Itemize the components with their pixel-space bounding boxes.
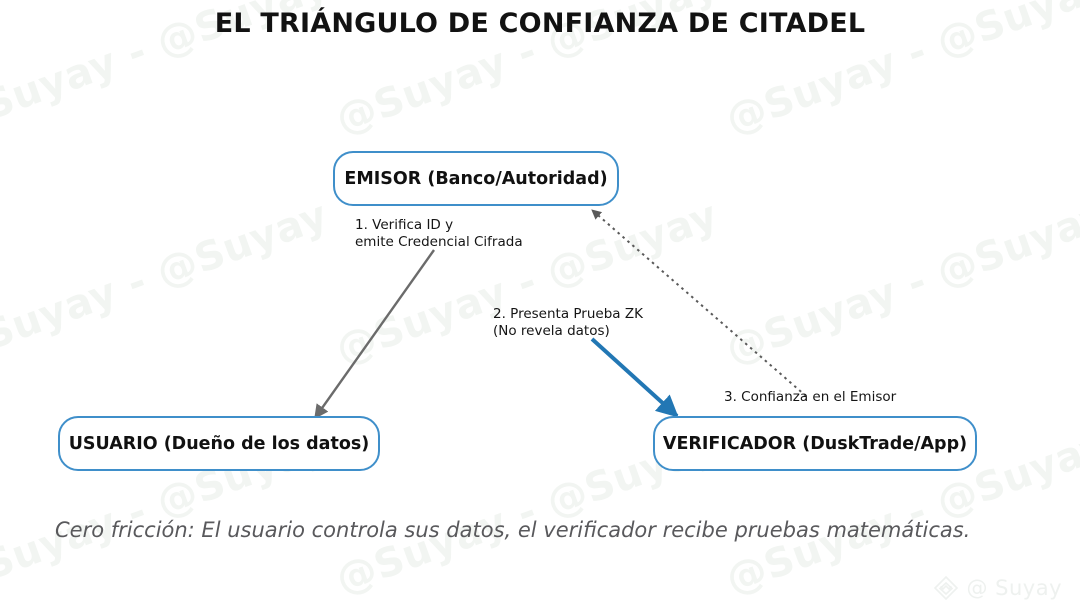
edge-label-3: 3. Confianza en el Emisor <box>724 389 896 406</box>
node-emisor-label: EMISOR (Banco/Autoridad) <box>344 169 607 189</box>
corner-watermark-text: @ Suyay <box>966 576 1062 600</box>
diagram-caption: Cero fricción: El usuario controla sus d… <box>55 518 970 542</box>
edge-usuario-to-verificador <box>592 339 677 416</box>
edge-emisor-to-usuario <box>315 250 434 418</box>
edge-label-2: 2. Presenta Prueba ZK (No revela datos) <box>493 306 643 340</box>
node-usuario-label: USUARIO (Dueño de los datos) <box>69 434 370 454</box>
diagram-canvas: @Suyay - @Suyay @Suyay - @Suyay @Suyay -… <box>0 0 1080 609</box>
diamond-logo-icon <box>933 575 959 601</box>
node-verificador[interactable]: VERIFICADOR (DuskTrade/App) <box>653 416 977 471</box>
edge-label-1: 1. Verifica ID y emite Credencial Cifrad… <box>355 217 523 251</box>
corner-watermark: @ Suyay <box>933 575 1062 601</box>
page-title: EL TRIÁNGULO DE CONFIANZA DE CITADEL <box>0 8 1080 39</box>
node-verificador-label: VERIFICADOR (DuskTrade/App) <box>663 434 967 454</box>
node-emisor[interactable]: EMISOR (Banco/Autoridad) <box>333 151 619 206</box>
node-usuario[interactable]: USUARIO (Dueño de los datos) <box>58 416 380 471</box>
